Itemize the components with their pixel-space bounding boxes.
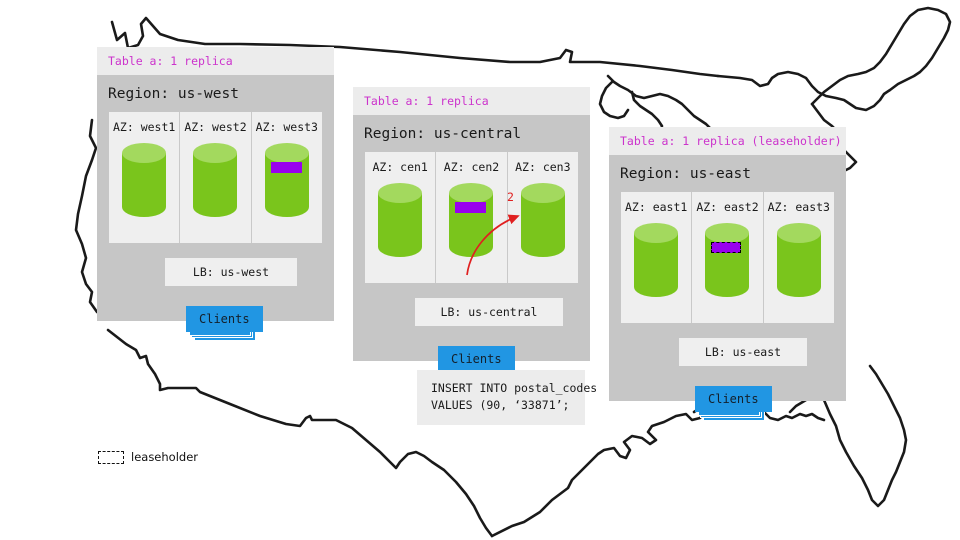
clients-us-east[interactable]: Clients — [695, 386, 772, 412]
load-balancer-us-west[interactable]: LB: us-west — [165, 258, 297, 286]
node-cylinder-east2[interactable] — [703, 221, 751, 303]
region-body-us-west: Region: us-west AZ: west1 AZ: west2 — [97, 75, 334, 321]
az-strip-us-west: AZ: west1 AZ: west2 — [109, 112, 322, 243]
region-title-us-west: Region: us-west — [97, 75, 334, 112]
node-cylinder-west3[interactable] — [263, 141, 311, 223]
az-label-cen3: AZ: cen3 — [515, 160, 570, 174]
az-cell-cen1[interactable]: AZ: cen1 — [365, 152, 436, 283]
table-header-us-east: Table a: 1 replica (leaseholder) — [609, 127, 846, 155]
az-label-east2: AZ: east2 — [696, 200, 758, 214]
node-cylinder-cen1[interactable] — [376, 181, 424, 263]
az-label-east3: AZ: east3 — [768, 200, 830, 214]
az-label-west2: AZ: west2 — [184, 120, 246, 134]
clients-us-west[interactable]: Clients — [186, 306, 263, 332]
replica-marker-cen2 — [455, 202, 486, 213]
node-cylinder-west2[interactable] — [191, 141, 239, 223]
az-label-west3: AZ: west3 — [256, 120, 318, 134]
node-cylinder-cen3[interactable] — [519, 181, 567, 263]
az-cell-east1[interactable]: AZ: east1 — [621, 192, 692, 323]
az-label-west1: AZ: west1 — [113, 120, 175, 134]
az-label-cen1: AZ: cen1 — [372, 160, 427, 174]
region-panel-us-central: Table a: 1 replica Region: us-central AZ… — [353, 87, 590, 361]
az-cell-east2[interactable]: AZ: east2 — [692, 192, 763, 323]
table-header-us-west: Table a: 1 replica — [97, 47, 334, 75]
az-strip-us-east: AZ: east1 AZ: east2 — [621, 192, 834, 323]
region-panel-us-west: Table a: 1 replica Region: us-west AZ: w… — [97, 47, 334, 321]
clients-label-us-west[interactable]: Clients — [186, 306, 263, 332]
clients-us-central[interactable]: Clients — [438, 346, 515, 372]
load-balancer-us-central[interactable]: LB: us-central — [415, 298, 563, 326]
clients-label-us-east[interactable]: Clients — [695, 386, 772, 412]
az-cell-cen2[interactable]: AZ: cen2 — [436, 152, 507, 283]
az-cell-cen3[interactable]: AZ: cen3 — [508, 152, 578, 283]
diagram-canvas: Table a: 1 replica Region: us-west AZ: w… — [0, 0, 960, 540]
region-title-us-east: Region: us-east — [609, 155, 846, 192]
replica-marker-west3 — [271, 162, 302, 173]
table-header-us-central: Table a: 1 replica — [353, 87, 590, 115]
node-cylinder-west1[interactable] — [120, 141, 168, 223]
region-body-us-central: Region: us-central AZ: cen1 AZ: cen2 — [353, 115, 590, 361]
leaseholder-replica-marker-east2 — [711, 242, 741, 253]
az-cell-west3[interactable]: AZ: west3 — [252, 112, 322, 243]
az-strip-us-central: AZ: cen1 AZ: cen2 — [365, 152, 578, 283]
legend-leaseholder: leaseholder — [98, 450, 198, 464]
region-panel-us-east: Table a: 1 replica (leaseholder) Region:… — [609, 127, 846, 401]
az-label-cen2: AZ: cen2 — [444, 160, 499, 174]
region-title-us-central: Region: us-central — [353, 115, 590, 152]
az-label-east1: AZ: east1 — [625, 200, 687, 214]
sql-statement-box: INSERT INTO postal_codes VALUES (90, ‘33… — [417, 370, 585, 425]
arrow-step-number: 2 — [507, 190, 514, 204]
load-balancer-us-east[interactable]: LB: us-east — [679, 338, 807, 366]
clients-label-us-central[interactable]: Clients — [438, 346, 515, 372]
az-cell-west2[interactable]: AZ: west2 — [180, 112, 251, 243]
node-cylinder-east1[interactable] — [632, 221, 680, 303]
leaseholder-swatch-icon — [98, 451, 124, 464]
az-cell-west1[interactable]: AZ: west1 — [109, 112, 180, 243]
az-cell-east3[interactable]: AZ: east3 — [764, 192, 834, 323]
region-body-us-east: Region: us-east AZ: east1 AZ: east2 — [609, 155, 846, 401]
node-cylinder-east3[interactable] — [775, 221, 823, 303]
legend-leaseholder-label: leaseholder — [131, 450, 198, 464]
node-cylinder-cen2[interactable] — [447, 181, 495, 263]
